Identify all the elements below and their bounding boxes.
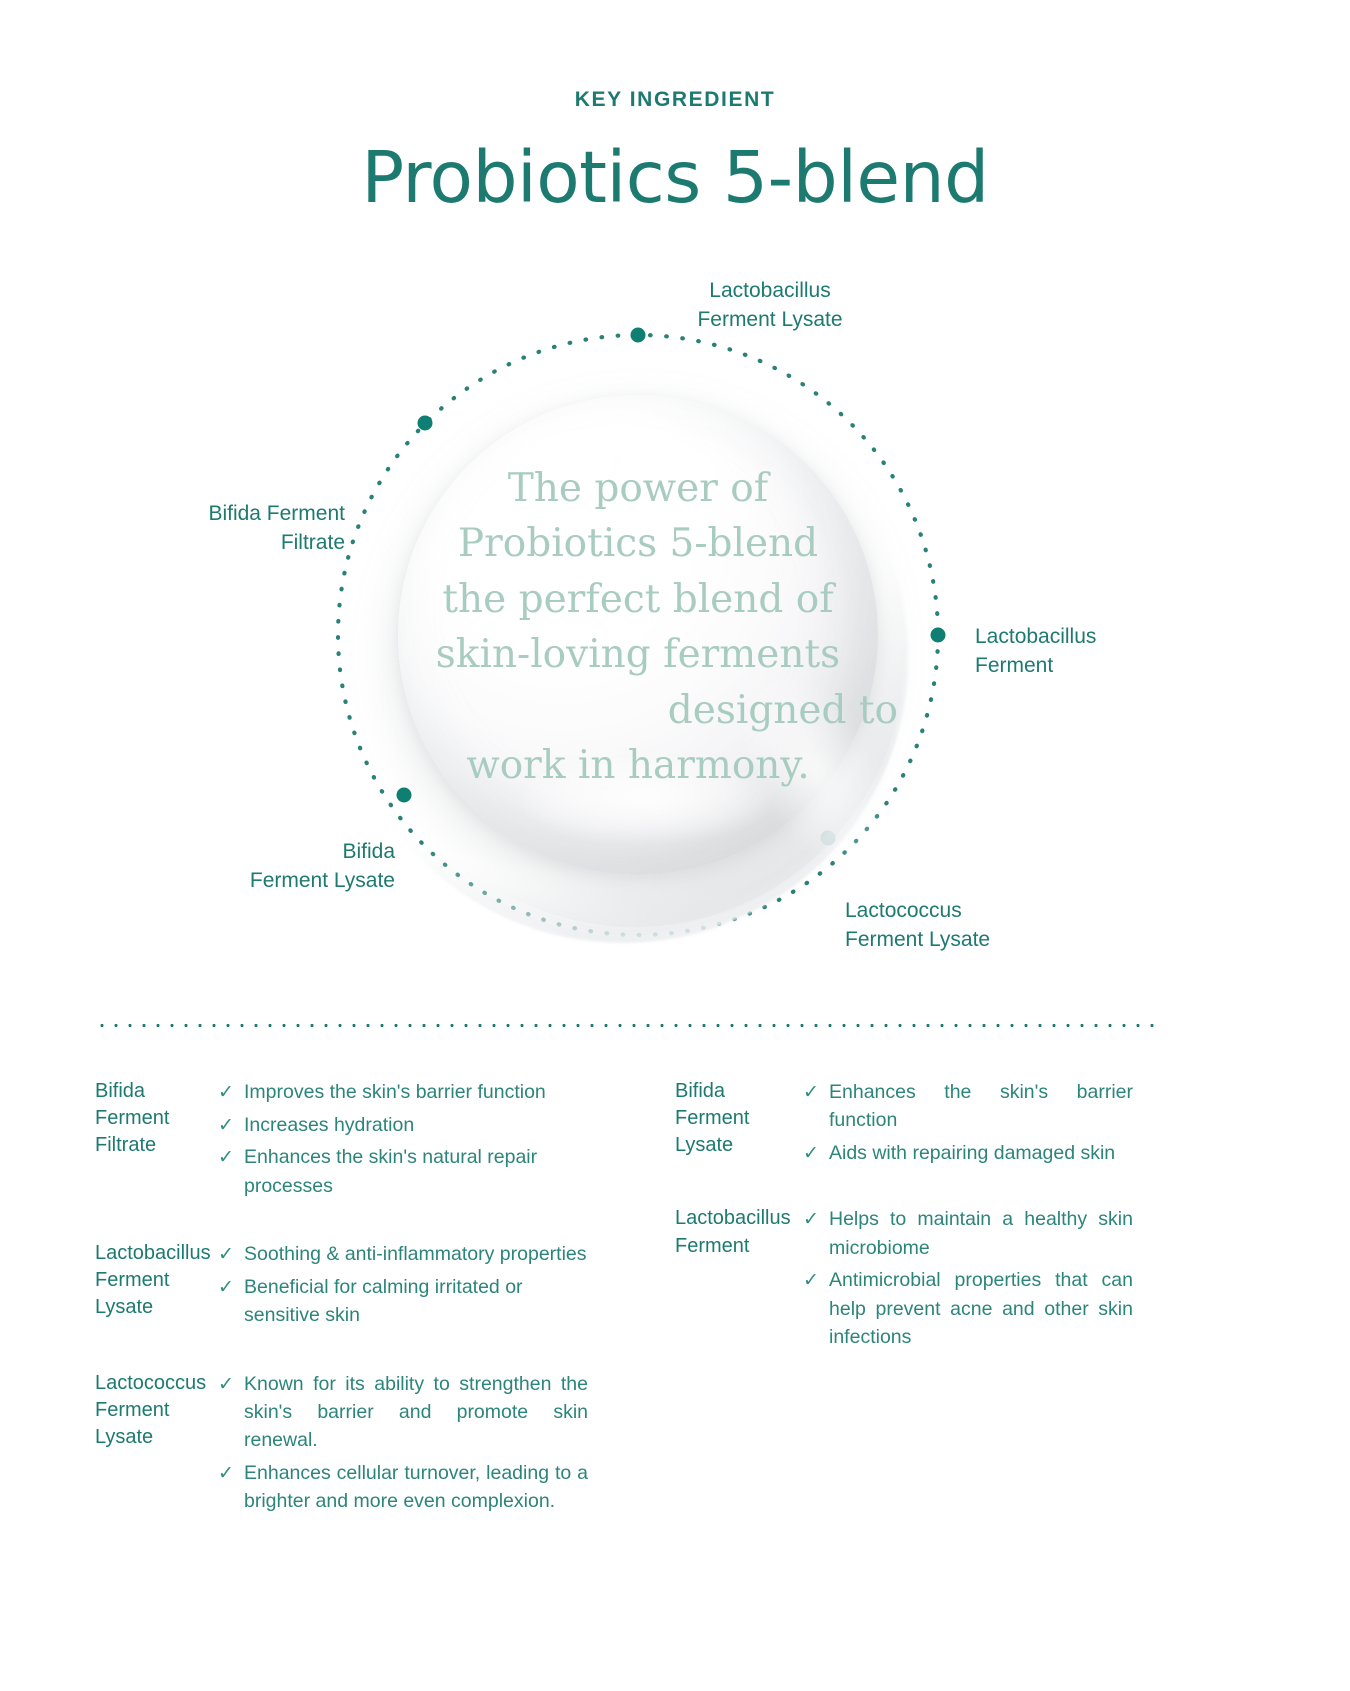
benefit-group-name: Lactococcus Ferment Lysate	[95, 1370, 218, 1520]
benefit-item: ✓Antimicrobial properties that can help …	[803, 1266, 1133, 1351]
orbit-label-bifida-ferment-filtrate: Bifida Ferment Filtrate	[60, 500, 345, 558]
check-icon: ✓	[803, 1266, 829, 1295]
check-icon: ✓	[218, 1111, 244, 1140]
orbit-label-bifida-ferment-lysate: Bifida Ferment Lysate	[55, 838, 395, 896]
orbit-label-lactococcus-ferment-lysate: Lactococcus Ferment Lysate	[845, 897, 1175, 955]
orbit-node-left	[418, 416, 433, 431]
eyebrow-label: KEY INGREDIENT	[0, 88, 1350, 112]
check-icon: ✓	[803, 1078, 829, 1107]
benefits-section: Bifida Ferment Filtrate✓Improves the ski…	[95, 1078, 1255, 1556]
benefit-item: ✓Beneficial for calming irritated or sen…	[218, 1273, 588, 1330]
benefit-item-text: Aids with repairing damaged skin	[829, 1139, 1115, 1167]
benefits-column-right: Bifida Ferment Lysate✓Enhances the skin'…	[675, 1078, 1255, 1556]
benefit-item-text: Enhances the skin's barrier function	[829, 1078, 1133, 1135]
page-title: Probiotics 5-blend	[0, 136, 1350, 219]
check-icon: ✓	[218, 1370, 244, 1399]
benefit-group-bifida-ferment-lysate: Bifida Ferment Lysate✓Enhances the skin'…	[675, 1078, 1255, 1171]
orbit-label-lactobacillus-ferment-lysate: Lactobacillus Ferment Lysate	[625, 277, 915, 335]
benefit-item: ✓Soothing & anti-inflammatory properties	[218, 1240, 588, 1269]
check-icon: ✓	[218, 1273, 244, 1302]
benefit-item: ✓Known for its ability to strengthen the…	[218, 1370, 588, 1455]
benefit-item: ✓Helps to maintain a healthy skin microb…	[803, 1205, 1133, 1262]
benefits-column-left: Bifida Ferment Filtrate✓Improves the ski…	[95, 1078, 675, 1556]
dotted-divider	[95, 1023, 1160, 1028]
quote-line-5: designed to	[378, 683, 898, 738]
benefit-group-lactobacillus-ferment-lysate: Lactobacillus Ferment Lysate✓Soothing & …	[95, 1240, 675, 1333]
orbit-label-lactobacillus-ferment: Lactobacillus Ferment	[975, 623, 1275, 681]
benefit-item-text: Enhances the skin's natural repair proce…	[244, 1143, 588, 1200]
bubble-quote: The power of Probiotics 5-blend the perf…	[378, 461, 898, 793]
benefit-group-lactobacillus-ferment: Lactobacillus Ferment✓Helps to maintain …	[675, 1205, 1255, 1355]
benefit-item-text: Enhances cellular turnover, leading to a…	[244, 1459, 588, 1516]
benefit-list: ✓Known for its ability to strengthen the…	[218, 1370, 588, 1520]
check-icon: ✓	[803, 1139, 829, 1168]
benefit-item: ✓Enhances cellular turnover, leading to …	[218, 1459, 588, 1516]
benefit-group-name: Lactobacillus Ferment Lysate	[95, 1240, 218, 1333]
benefit-item: ✓Improves the skin's barrier function	[218, 1078, 588, 1107]
check-icon: ✓	[218, 1143, 244, 1172]
check-icon: ✓	[218, 1459, 244, 1488]
benefit-group-bifida-ferment-filtrate: Bifida Ferment Filtrate✓Improves the ski…	[95, 1078, 675, 1204]
benefit-item-text: Soothing & anti-inflammatory properties	[244, 1240, 587, 1268]
benefit-list: ✓Helps to maintain a healthy skin microb…	[803, 1205, 1133, 1355]
quote-line-3: the perfect blend of	[378, 572, 898, 627]
orbit-node-right	[931, 628, 946, 643]
benefit-item-text: Improves the skin's barrier function	[244, 1078, 546, 1106]
quote-line-4: skin-loving ferments	[378, 627, 898, 682]
benefit-group-name: Bifida Ferment Filtrate	[95, 1078, 218, 1204]
benefit-group-name: Lactobacillus Ferment	[675, 1205, 803, 1355]
benefit-list: ✓Soothing & anti-inflammatory properties…	[218, 1240, 588, 1333]
check-icon: ✓	[218, 1240, 244, 1269]
check-icon: ✓	[218, 1078, 244, 1107]
benefit-group-lactococcus-ferment-lysate: Lactococcus Ferment Lysate✓Known for its…	[95, 1370, 675, 1520]
benefit-item: ✓Increases hydration	[218, 1111, 588, 1140]
quote-line-2: Probiotics 5-blend	[378, 516, 898, 571]
benefit-item: ✓Enhances the skin's natural repair proc…	[218, 1143, 588, 1200]
benefit-item-text: Antimicrobial properties that can help p…	[829, 1266, 1133, 1351]
check-icon: ✓	[803, 1205, 829, 1234]
benefit-group-name: Bifida Ferment Lysate	[675, 1078, 803, 1171]
benefit-item: ✓Enhances the skin's barrier function	[803, 1078, 1133, 1135]
benefit-item-text: Beneficial for calming irritated or sens…	[244, 1273, 588, 1330]
quote-line-1: The power of	[378, 461, 898, 516]
benefit-item: ✓Aids with repairing damaged skin	[803, 1139, 1133, 1168]
benefit-item-text: Increases hydration	[244, 1111, 414, 1139]
ingredient-orbit-diagram: The power of Probiotics 5-blend the perf…	[0, 255, 1350, 985]
benefit-item-text: Known for its ability to strengthen the …	[244, 1370, 588, 1455]
benefit-item-text: Helps to maintain a healthy skin microbi…	[829, 1205, 1133, 1262]
benefit-list: ✓Improves the skin's barrier function✓In…	[218, 1078, 588, 1204]
benefit-list: ✓Enhances the skin's barrier function✓Ai…	[803, 1078, 1133, 1171]
quote-line-6: work in harmony.	[378, 738, 898, 793]
